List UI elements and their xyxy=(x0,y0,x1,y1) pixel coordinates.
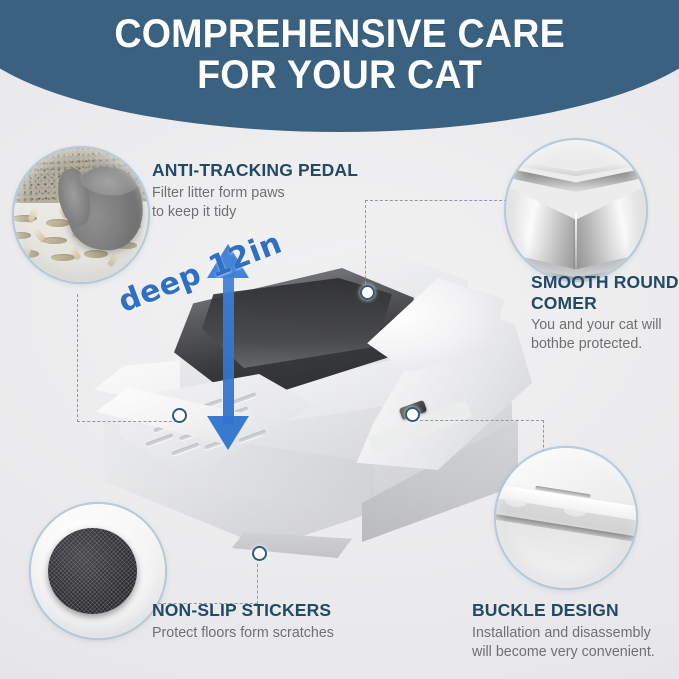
hotspot-dot-sticker xyxy=(252,546,267,561)
callout-smooth-round-corner: SMOOTH ROUND COMER You and your cat will… xyxy=(531,272,679,354)
callout-subtitle-buckle: Installation and disassembly will become… xyxy=(472,624,679,662)
header-title-line-2: FOR YOUR CAT xyxy=(197,55,482,96)
callout-subtitle-corner: You and your cat will bothbe protected. xyxy=(531,316,679,354)
callout-subtitle-pedal: Filter litter form paws to keep it tidy xyxy=(152,184,367,222)
hotspot-dot-buckle xyxy=(405,407,420,422)
connector-sticker-vertical xyxy=(257,564,258,604)
connector-buckle-horizontal xyxy=(415,420,544,421)
callout-subtitle-sticker: Protect floors form scratches xyxy=(152,624,402,643)
zoom-circle-smooth-round-corner xyxy=(506,140,646,280)
buckle-rail-icon xyxy=(496,448,636,588)
arrow-shaft xyxy=(223,272,234,424)
connector-corner-horizontal xyxy=(365,200,512,201)
infographic-page: COMPREHENSIVE CARE FOR YOUR CAT xyxy=(0,0,679,679)
callout-title-buckle: BUCKLE DESIGN xyxy=(472,600,679,621)
callout-title-corner: SMOOTH ROUND COMER xyxy=(531,272,679,313)
callout-title-sticker: NON-SLIP STICKERS xyxy=(152,600,402,621)
callout-buckle-design: BUCKLE DESIGN Installation and disassemb… xyxy=(472,600,679,661)
zoom-circle-buckle-design xyxy=(496,448,636,588)
hotspot-dot-pedal xyxy=(172,408,187,423)
stainless-corner-icon xyxy=(506,140,646,280)
callout-anti-tracking-pedal: ANTI-TRACKING PEDAL Filter litter form p… xyxy=(152,160,367,221)
connector-pedal-horizontal xyxy=(77,421,177,422)
arrow-down-head-icon xyxy=(207,416,249,450)
non-slip-pad-icon xyxy=(48,528,136,614)
header-banner-text: COMPREHENSIVE CARE FOR YOUR CAT xyxy=(0,0,679,132)
header-banner: COMPREHENSIVE CARE FOR YOUR CAT xyxy=(0,0,679,132)
header-title-line-1: COMPREHENSIVE CARE xyxy=(114,14,564,55)
connector-pedal-vertical xyxy=(77,294,78,422)
zoom-circle-anti-tracking-pedal xyxy=(14,148,148,282)
litter-box-foot xyxy=(232,532,352,558)
callout-non-slip-stickers: NON-SLIP STICKERS Protect floors form sc… xyxy=(152,600,402,643)
hotspot-dot-corner xyxy=(360,285,375,300)
zoom-circle-non-slip-stickers xyxy=(31,504,165,638)
callout-title-pedal: ANTI-TRACKING PEDAL xyxy=(152,160,367,181)
